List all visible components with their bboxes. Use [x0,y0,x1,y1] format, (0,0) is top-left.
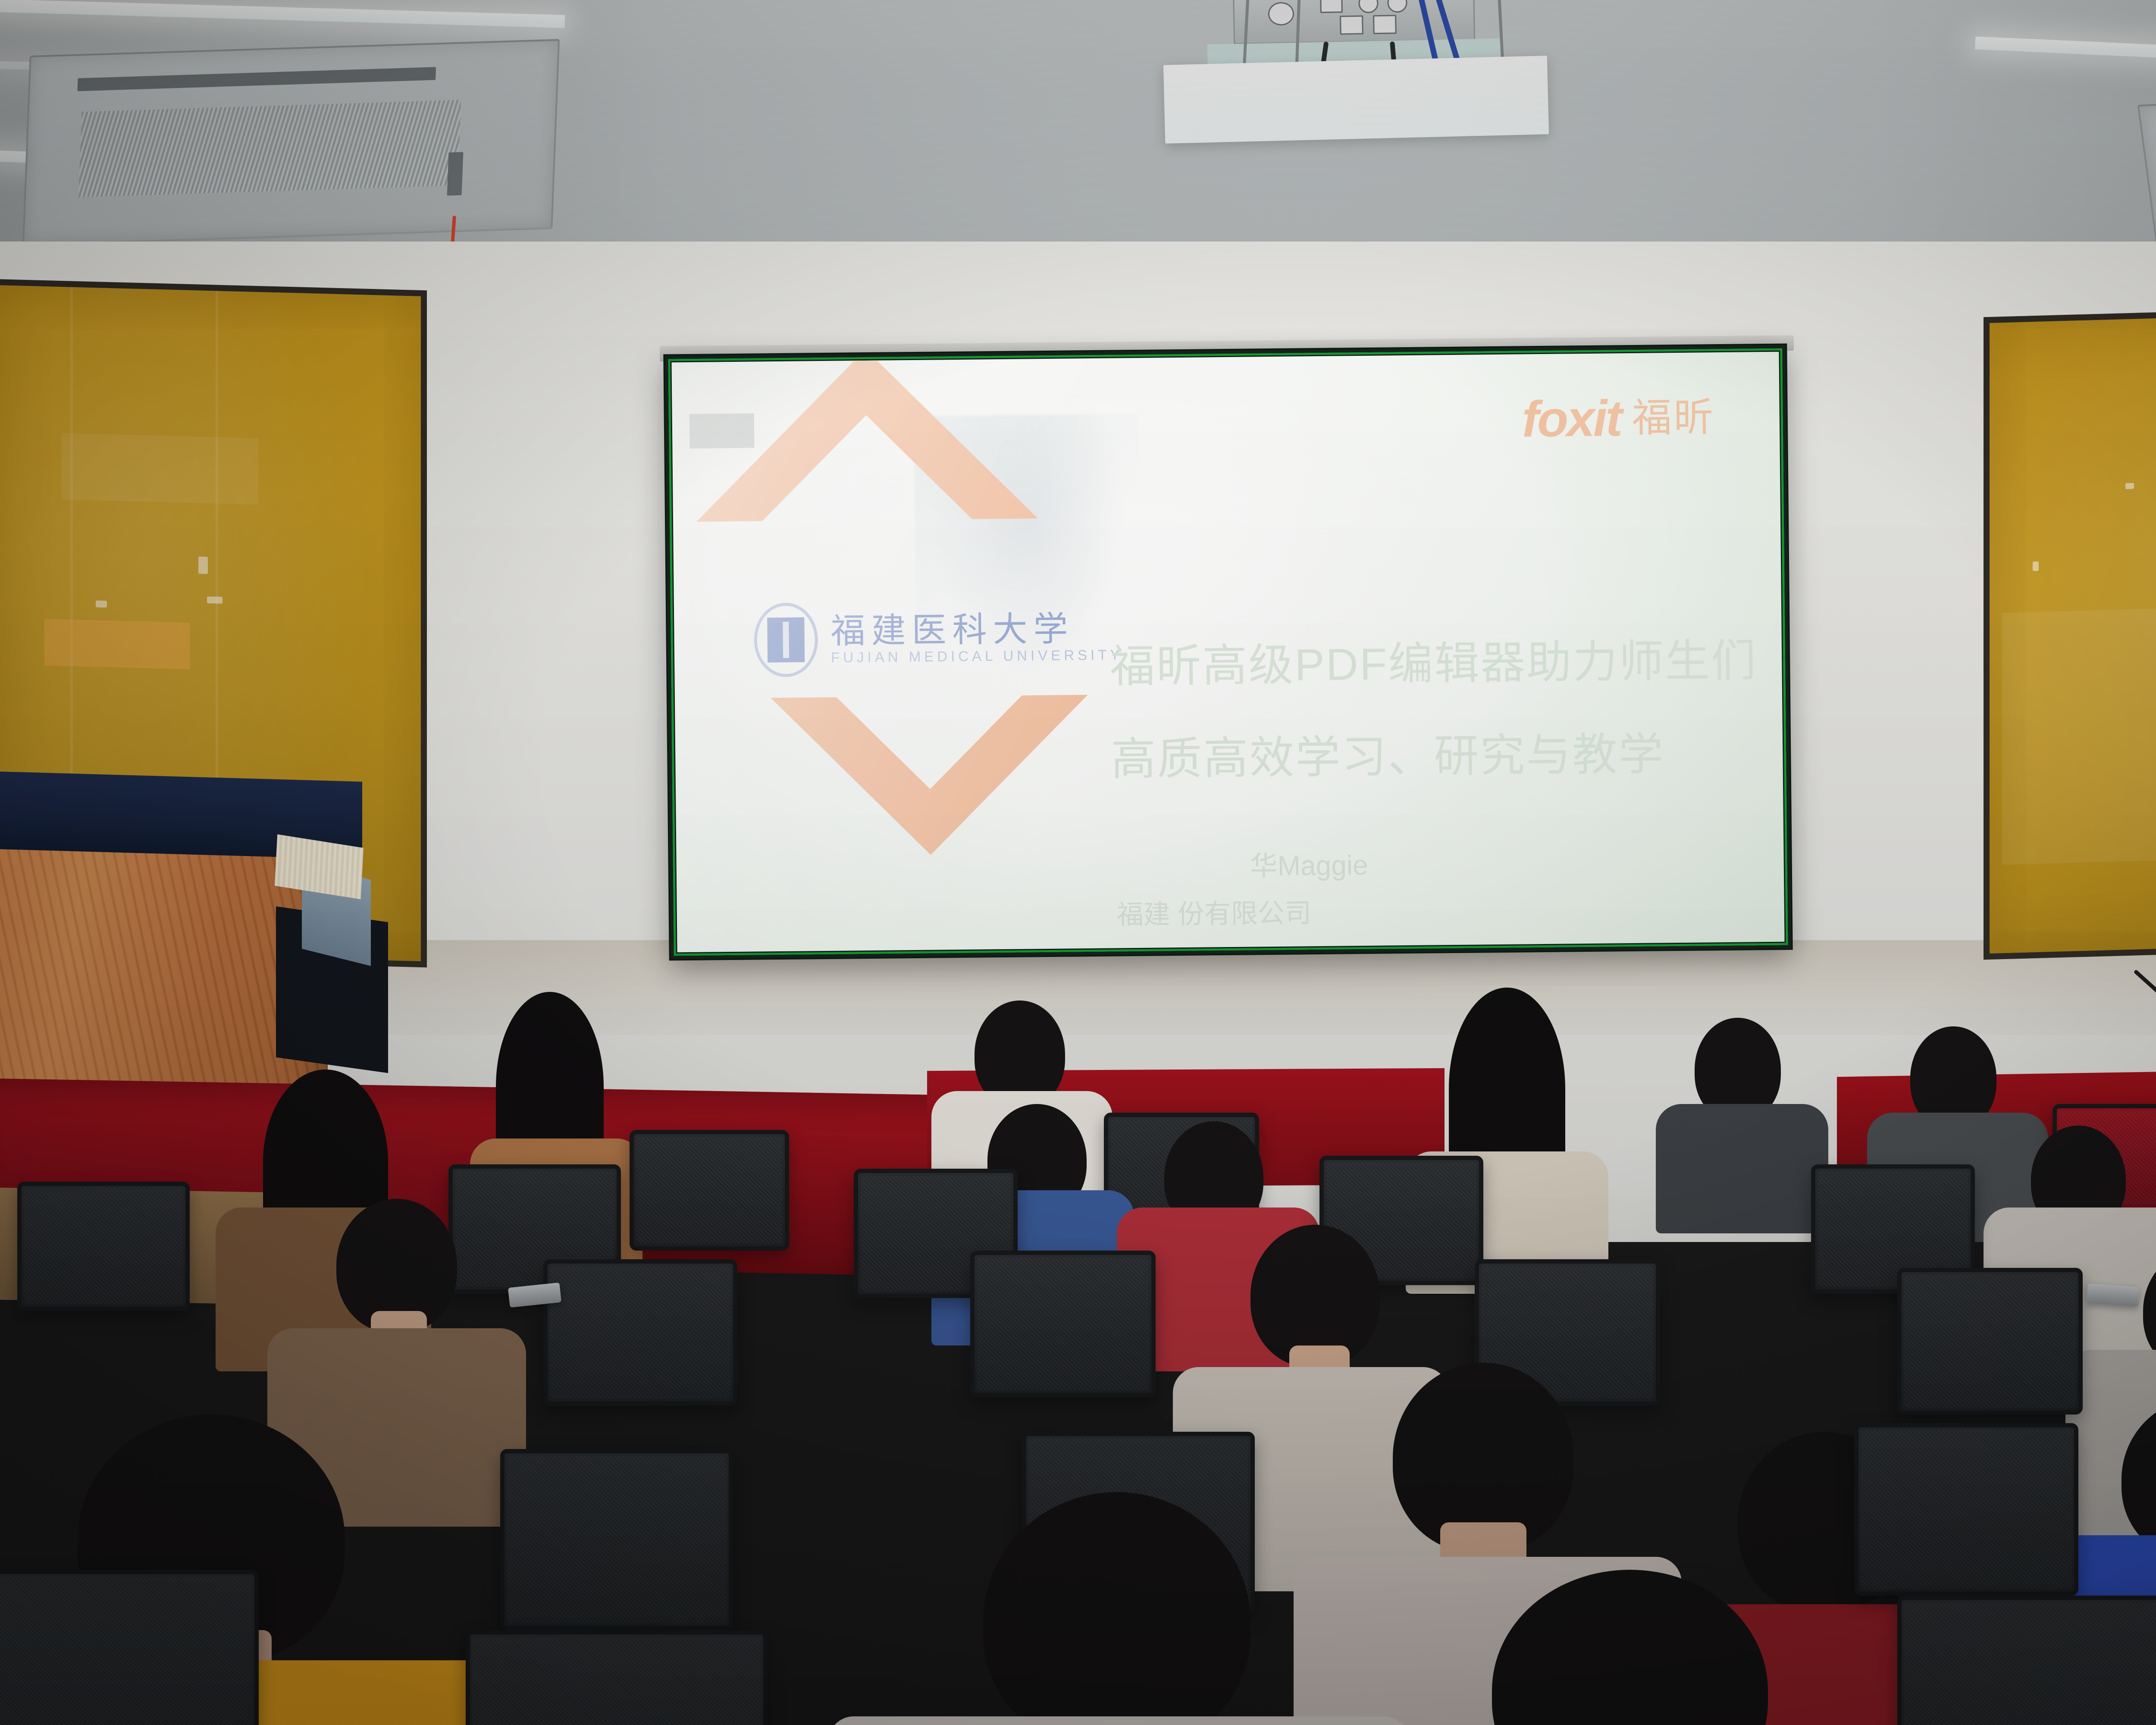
slide-title-line-2: 高质高效学习、研究与教学 [1111,716,1758,787]
slide-presenter-name: 华Maggie [1250,843,1368,884]
audience-seat[interactable] [1897,1268,2083,1414]
screen-corner-marker [689,414,755,448]
university-name-cn: 福建医科大学 [830,610,1123,649]
audience-area [0,983,2156,1725]
audience-seat[interactable] [17,1182,190,1311]
audience-seat[interactable] [1897,1596,2156,1725]
ceiling-projector [1163,56,1549,144]
projection-screen: foxit 福昕 福建医科大学 FUJIAN MEDICAL UNIVERSIT… [671,352,1784,953]
university-logo: 福建医科大学 FUJIAN MEDICAL UNIVERSITY [754,599,1123,677]
audience-seat[interactable] [466,1630,768,1725]
seat-armrest [2087,1283,2140,1307]
audience-seat[interactable] [630,1130,789,1251]
ac-vent-left [22,39,560,245]
projection-screen-frame: foxit 福昕 福建医科大学 FUJIAN MEDICAL UNIVERSIT… [664,345,1791,960]
foxit-wordmark: foxit [1522,393,1621,445]
university-seal-icon [754,602,818,677]
wall-panel-right [1984,300,2156,960]
slide-organization: 福建 份有限公司 [1116,891,1311,931]
audience-seat[interactable] [970,1251,1156,1397]
audience-seat[interactable] [1854,1423,2078,1596]
university-name-en: FUJIAN MEDICAL UNIVERSITY [831,646,1123,666]
audience-seat[interactable] [0,1570,259,1725]
foxit-logo: foxit 福昕 [1522,392,1715,445]
lecture-hall-scene: foxit 福昕 福建医科大学 FUJIAN MEDICAL UNIVERSIT… [0,0,2156,1725]
slide-title-block: 福昕高级PDF编辑器助力师生们 高质高效学习、研究与教学 [1109,624,1758,787]
foxit-chinese-name: 福昕 [1632,398,1715,438]
audience-seat[interactable] [543,1259,737,1406]
slide-title-line-1: 福昕高级PDF编辑器助力师生们 [1109,624,1757,695]
audience-seat[interactable] [500,1449,733,1630]
